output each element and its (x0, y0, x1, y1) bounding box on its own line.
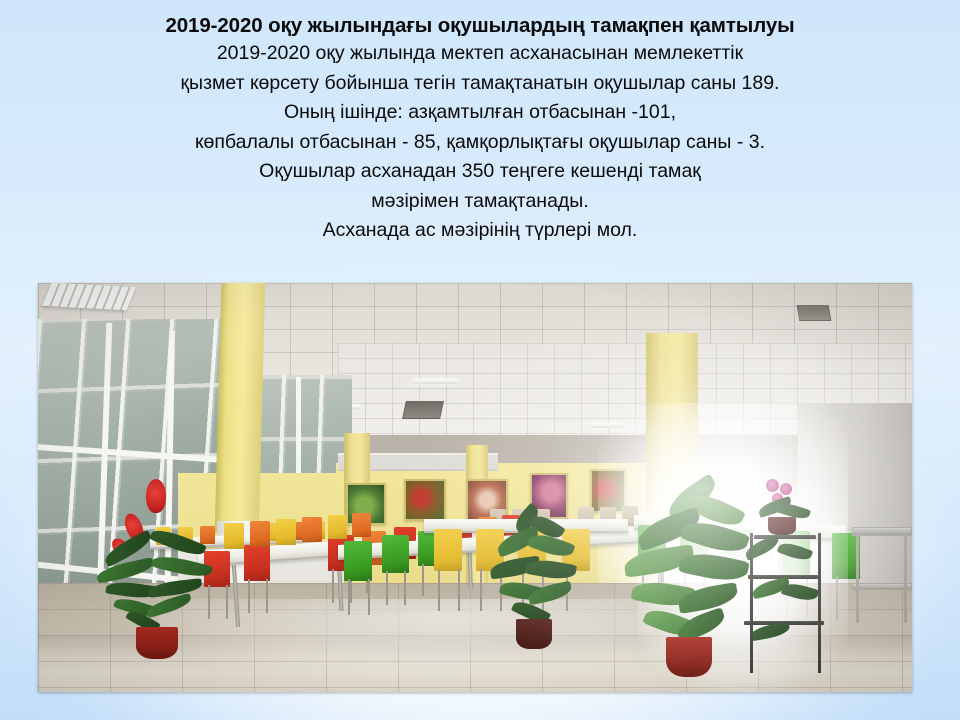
slide-canvas: 2019-2020 оқу жылындағы оқушылардың тама… (0, 0, 960, 720)
ceiling-vent-far (797, 305, 832, 321)
column-yellow-left (215, 283, 266, 533)
page-title: 2019-2020 оқу жылындағы оқушылардың тама… (0, 12, 960, 39)
potted-plant-left (96, 479, 216, 659)
chair-leg-g1b (368, 579, 370, 615)
chair-orange-f2 (302, 517, 322, 542)
chair-yellow-f2 (276, 519, 296, 545)
body-line-5: Оқушылар асханадан 350 теңгеге кешенді т… (0, 157, 960, 187)
chair-yellow-glare-1 (434, 529, 462, 571)
strip-light-1 (413, 379, 458, 384)
chair-leg-yg1b (458, 569, 460, 611)
chair-red-2 (244, 545, 270, 581)
chair-leg-r2b (266, 579, 268, 613)
potted-plant-right (624, 487, 754, 687)
chair-leg-g2b (404, 571, 406, 605)
serving-cart-shelf (852, 583, 912, 590)
body-line-6: мәзірімен тамақтанады. (0, 187, 960, 217)
chair-green-2 (382, 535, 409, 573)
chair-leg-yg2 (480, 569, 482, 611)
ceiling-vent (402, 401, 444, 419)
grid-ceiling-light-icon (42, 283, 135, 310)
chair-leg-yg1 (438, 569, 440, 611)
cafeteria-photo (38, 283, 912, 692)
chair-leg-r1b (226, 585, 228, 619)
chair-orange-f3 (352, 513, 371, 537)
serving-cart-leg-1 (856, 533, 859, 623)
chair-leg-g3 (422, 564, 424, 596)
serving-cart-leg-2 (904, 533, 907, 623)
chair-leg-g2 (386, 571, 388, 605)
chair-yellow-f3 (328, 515, 347, 539)
body-line-7: Асханада ас мәзірінің түрлері мол. (0, 216, 960, 246)
body-line-3: Оның ішінде: азқамтылған отбасынан -101, (0, 98, 960, 128)
plant-stand (738, 479, 834, 679)
chair-yellow-f1 (224, 523, 244, 549)
serving-cart-top (852, 527, 912, 536)
chair-green-1 (344, 541, 372, 581)
body-line-1: 2019-2020 оқу жылында мектеп асханасынан… (0, 39, 960, 69)
potted-plant-center (486, 511, 576, 661)
body-line-4: көпбалалы отбасынан - 85, қамқорлықтағы … (0, 128, 960, 158)
chair-orange-f1 (250, 521, 270, 547)
slide-text-block: 2019-2020 оқу жылындағы оқушылардың тама… (0, 12, 960, 246)
chair-leg-r2 (248, 579, 250, 613)
chair-leg-r3 (332, 569, 334, 603)
body-line-2: қызмет көрсету бойынша тегін тамақтанаты… (0, 69, 960, 99)
framed-picture-2 (404, 479, 446, 521)
chair-leg-g1 (348, 579, 350, 615)
